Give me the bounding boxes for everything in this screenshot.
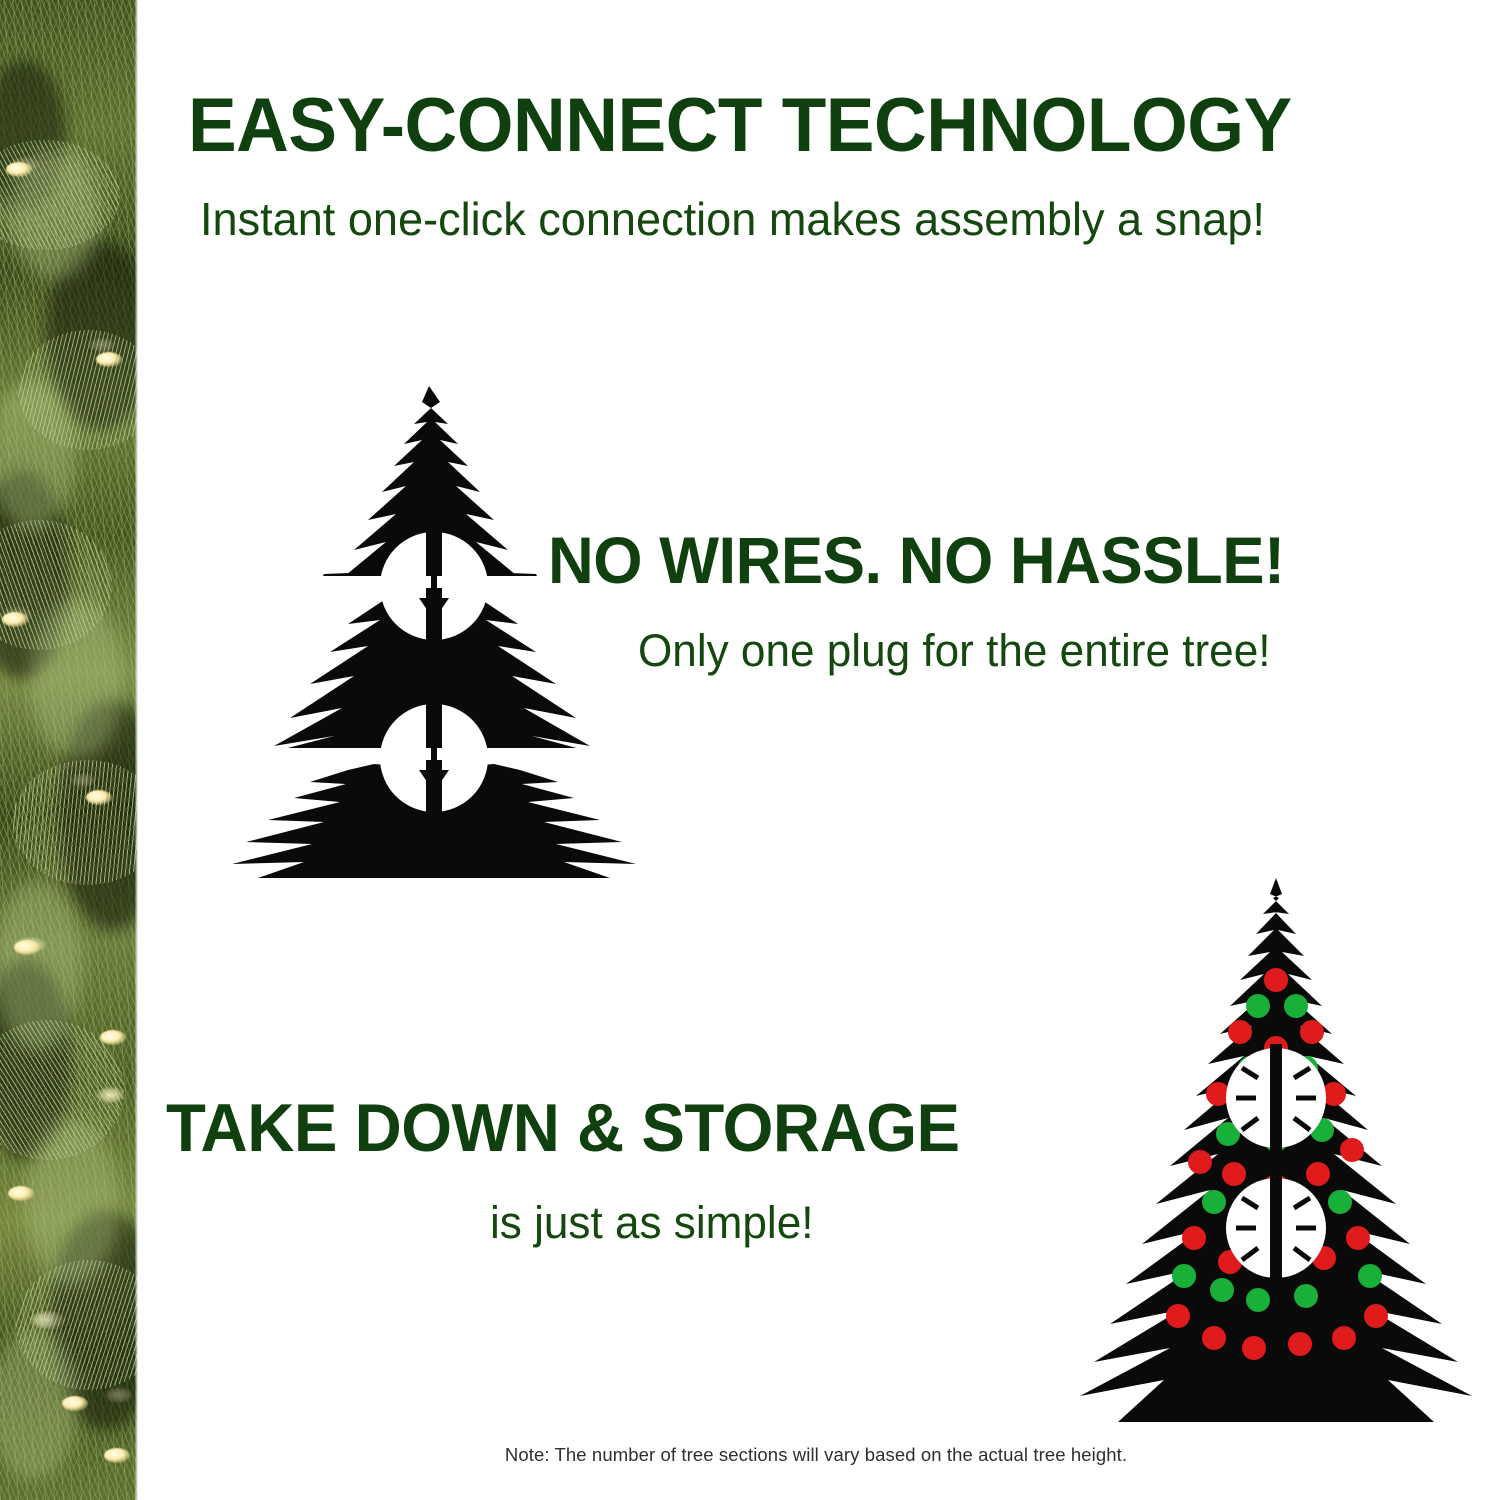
infographic-page: EASY-CONNECT TECHNOLOGY Instant one-clic…: [0, 0, 1494, 1500]
page-title: EASY-CONNECT TECHNOLOGY: [188, 88, 1292, 164]
string-light-bulb: [62, 1396, 88, 1411]
content-area: EASY-CONNECT TECHNOLOGY Instant one-clic…: [138, 0, 1494, 1500]
page-subtitle: Instant one-click connection makes assem…: [200, 196, 1265, 242]
connect-arrow-icon: [318, 528, 550, 646]
string-light-bulb: [100, 1030, 126, 1045]
string-light-bulb: [96, 352, 122, 367]
connect-arrow-icon: [268, 700, 600, 818]
pine-branch-photo-strip: [0, 0, 138, 1500]
string-light-bulb: [6, 162, 32, 177]
tree-decorated-graphic: [1058, 872, 1494, 1422]
string-light-bulb: [14, 940, 40, 955]
tree-sections-graphic: [198, 378, 668, 878]
string-light-bulb: [8, 1186, 34, 1201]
string-light-bulb: [86, 790, 112, 805]
footer-note: Note: The number of tree sections will v…: [138, 1444, 1494, 1466]
string-light-bulb: [2, 612, 28, 627]
no-wires-headline: NO WIRES. NO HASSLE!: [548, 527, 1285, 593]
take-down-subline: is just as simple!: [490, 1200, 814, 1245]
string-light-bulb: [104, 1448, 130, 1463]
take-down-headline: TAKE DOWN & STORAGE: [166, 1094, 960, 1162]
no-wires-subline: Only one plug for the entire tree!: [638, 628, 1270, 673]
